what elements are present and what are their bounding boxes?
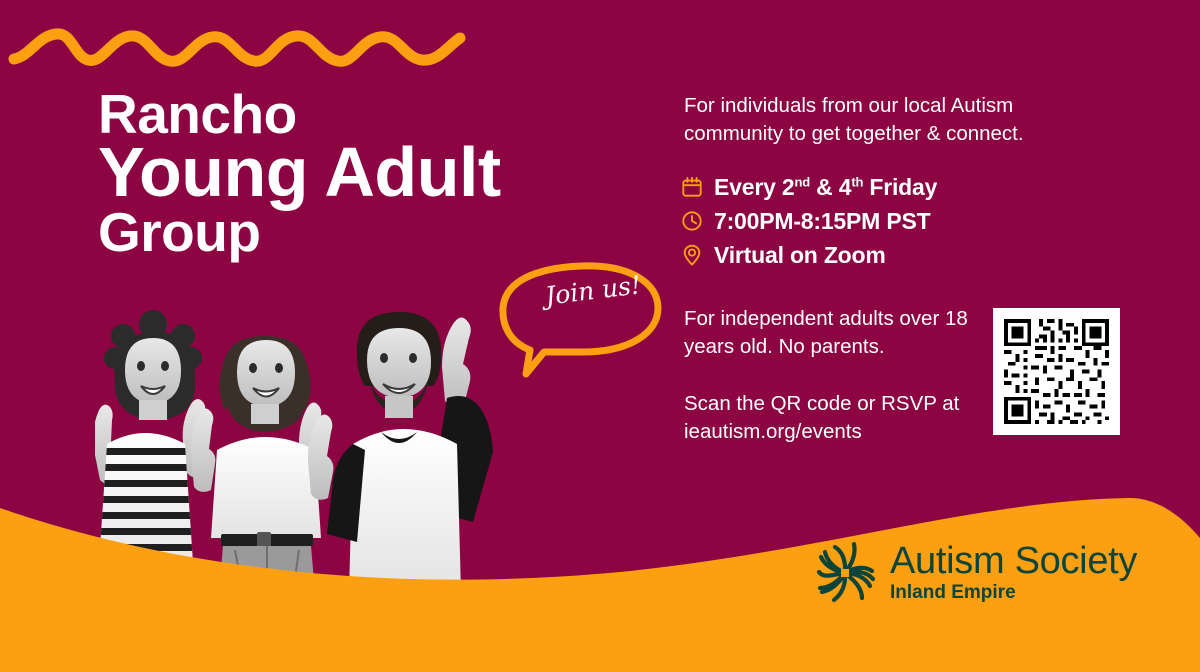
- title-line-2: Young Adult: [98, 139, 618, 207]
- title-line-3: Group: [98, 206, 618, 259]
- calendar-icon: [681, 175, 703, 199]
- flyer-canvas: Rancho Young Adult Group: [0, 0, 1200, 672]
- page-title: Rancho Young Adult Group: [98, 88, 618, 260]
- detail-row-location: Virtual on Zoom: [681, 241, 1081, 269]
- detail-date-text: Every 2nd & 4th Friday: [714, 174, 937, 201]
- logo-name: Autism Society: [890, 542, 1137, 581]
- autism-society-logo: Autism Society Inland Empire: [812, 540, 1137, 606]
- detail-row-date: Every 2nd & 4th Friday: [681, 173, 1081, 201]
- qr-code[interactable]: [993, 308, 1120, 435]
- detail-row-time: 7:00PM-8:15PM PST: [681, 207, 1081, 235]
- detail-location-text: Virtual on Zoom: [714, 242, 886, 269]
- pinwheel-logo-icon: [812, 540, 878, 606]
- location-pin-icon: [681, 243, 703, 267]
- clock-icon: [681, 209, 703, 233]
- event-details-list: Every 2nd & 4th Friday 7:00PM-8:15PM PST…: [681, 173, 1081, 275]
- rsvp-url: ieautism.org/events: [684, 420, 862, 443]
- rsvp-text: Scan the QR code or RSVP at ieautism.org…: [684, 390, 984, 447]
- people-photo: [95, 292, 535, 592]
- wavy-line-icon: [8, 14, 478, 76]
- person-middle: [191, 336, 324, 592]
- person-right: [308, 312, 493, 592]
- rsvp-line-1: Scan the QR code or RSVP at: [684, 392, 959, 415]
- logo-chapter: Inland Empire: [890, 583, 1137, 604]
- detail-time-text: 7:00PM-8:15PM PST: [714, 208, 930, 235]
- eligibility-note: For independent adults over 18 years old…: [684, 305, 974, 362]
- intro-text: For individuals from our local Autism co…: [684, 92, 1064, 147]
